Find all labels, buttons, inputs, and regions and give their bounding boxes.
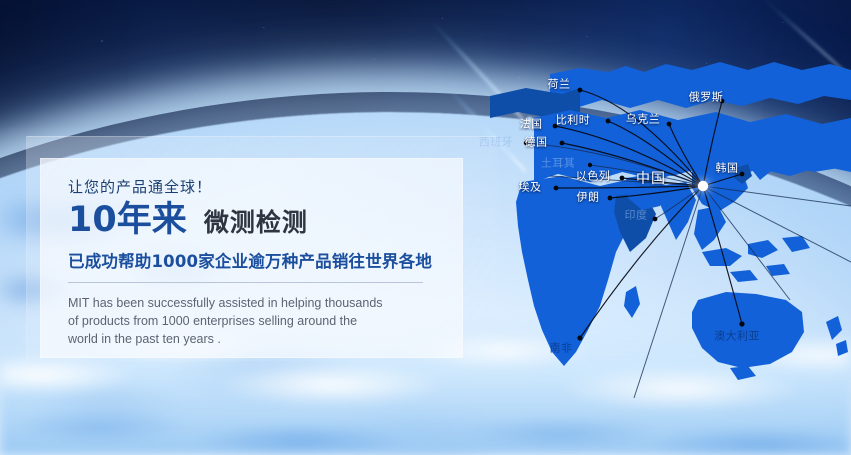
map-label-ukraine: 乌克兰 <box>626 114 661 125</box>
map-label-egypt: 埃及 <box>519 182 542 193</box>
map-label-france: 法国 <box>520 119 543 130</box>
map-label-israel: 以色列 <box>576 171 611 182</box>
map-label-belgium: 比利时 <box>556 115 591 126</box>
map-label-iran: 伊朗 <box>577 192 600 203</box>
panel-kicker: 让您的产品通全球！ <box>68 176 440 197</box>
english-line-3: world in the past ten years . <box>68 330 428 348</box>
headline-brand: 微测检测 <box>204 208 308 237</box>
page-title: 10年来 微测检测 <box>68 203 440 238</box>
headline-years: 10年来 <box>68 200 187 240</box>
hub-node-china <box>698 181 708 191</box>
english-line-1: MIT has been successfully assisted in he… <box>68 294 428 312</box>
map-label-australia: 澳大利亚 <box>714 331 760 342</box>
map-label-south-africa: 南非 <box>550 343 573 354</box>
map-label-south-korea: 韩国 <box>716 163 739 174</box>
global-network-banner: 中国 荷兰 比利时 法国 德国 西班牙 土耳其 以色列 埃及 伊朗 乌克兰 俄罗… <box>0 0 851 455</box>
english-line-2: of products from 1000 enterprises sellin… <box>68 312 428 330</box>
map-label-china: 中国 <box>636 172 666 186</box>
divider <box>68 282 423 283</box>
map-label-germany: 德国 <box>525 137 548 148</box>
map-label-turkey: 土耳其 <box>541 158 576 169</box>
panel-english-copy: MIT has been successfully assisted in he… <box>68 294 428 348</box>
map-label-india: 印度 <box>625 210 648 221</box>
map-label-russia: 俄罗斯 <box>689 92 724 103</box>
promo-panel-content: 让您的产品通全球！ 10年来 微测检测 已成功帮助1000家企业逾万种产品销往世… <box>68 176 440 348</box>
panel-subline: 已成功帮助1000家企业逾万种产品销往世界各地 <box>68 248 440 272</box>
map-label-netherlands: 荷兰 <box>548 79 571 90</box>
